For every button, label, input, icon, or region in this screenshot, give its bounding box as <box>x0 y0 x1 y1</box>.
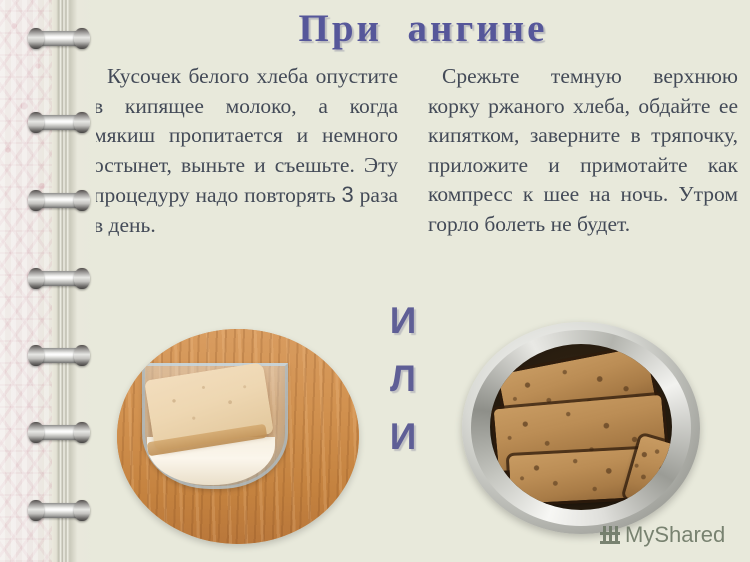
watermark: MyShared <box>600 522 725 548</box>
photo-rye-bread-in-metal-bowl <box>462 322 700 534</box>
spiral-binder-ring <box>28 422 90 443</box>
repeat-count-value: 3 <box>342 182 354 207</box>
spiral-binder-ring <box>28 500 90 521</box>
or-divider: И Л И <box>378 292 428 466</box>
left-text-column: Кусочек белого хлеба опустите в кипящее … <box>93 62 398 240</box>
spiral-binder-ring <box>28 112 90 133</box>
or-divider-letter: И <box>378 292 428 350</box>
or-divider-letter: И <box>378 408 428 466</box>
spiral-binder-ring <box>28 28 90 49</box>
or-divider-letter: Л <box>378 350 428 408</box>
metal-bowl-interior <box>490 344 672 510</box>
right-text-column: Срежьте темную верхнюю корку ржаного хле… <box>428 62 738 239</box>
right-paragraph-text: Срежьте темную верхнюю корку ржаного хле… <box>428 64 738 236</box>
watermark-label: MyShared <box>625 522 725 548</box>
myshared-logo-icon <box>600 526 620 544</box>
spiral-binder-ring <box>28 345 90 366</box>
page-title: При ангине <box>96 6 750 51</box>
spiral-binder-ring <box>28 268 90 289</box>
notebook-binder <box>0 0 96 562</box>
slide-canvas: При ангине Кусочек белого хлеба опустите… <box>0 0 750 562</box>
photo-bread-in-milk-bowl <box>117 329 359 544</box>
spiral-binder-ring <box>28 190 90 211</box>
